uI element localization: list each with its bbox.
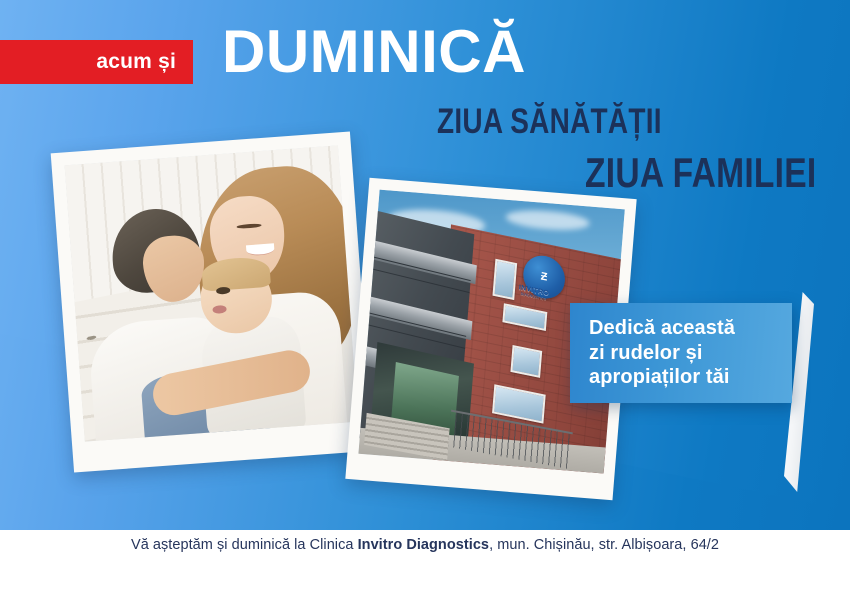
headline-ziua-sanatatii: ZIUA SĂNĂTĂȚII: [437, 104, 662, 139]
headline-ziua-familiei: ZIUA FAMILIEI: [585, 152, 816, 194]
footer-brand: Invitro Diagnostics: [358, 537, 489, 553]
callout-box: Dedică această zi rudelor și apropiațilo…: [570, 303, 792, 403]
footer-prefix: Vă așteptăm și duminică la Clinica: [131, 537, 358, 553]
building-window: [511, 345, 542, 377]
footer-address-line: Vă așteptăm și duminică la Clinica Invit…: [0, 537, 850, 553]
invitro-logo-mark: Ƶ: [532, 264, 555, 290]
promo-banner: acum și DUMINICĂ ZIUA SĂNĂTĂȚII ZIUA FAM…: [0, 0, 850, 600]
headline-duminica: DUMINICĂ: [222, 22, 526, 82]
badge-acum-si: acum și: [0, 40, 193, 84]
family-photo-image: [65, 145, 359, 441]
family-photo-frame: [51, 131, 374, 472]
badge-label: acum și: [96, 50, 176, 74]
callout-line-1: Dedică această: [589, 316, 776, 341]
callout-line-2: zi rudelor și: [589, 341, 776, 366]
callout-line-3: apropiaților tăi: [589, 365, 776, 390]
footer-suffix: , mun. Chișinău, str. Albișoara, 64/2: [489, 537, 719, 553]
